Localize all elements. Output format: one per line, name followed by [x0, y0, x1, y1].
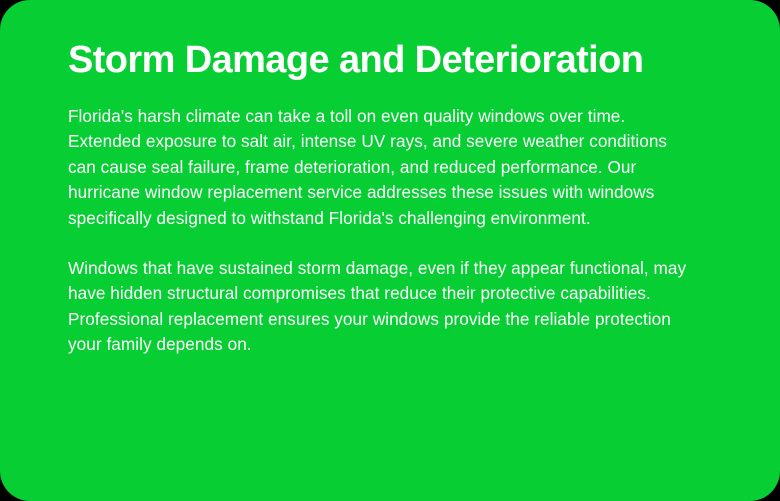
body-paragraph-2: Windows that have sustained storm damage…	[68, 256, 696, 358]
storm-damage-card: Storm Damage and Deterioration Florida's…	[0, 0, 780, 501]
card-content: Storm Damage and Deterioration Florida's…	[68, 36, 702, 358]
page-title: Storm Damage and Deterioration	[68, 36, 702, 84]
card-body: Florida's harsh climate can take a toll …	[68, 104, 696, 358]
body-paragraph-1: Florida's harsh climate can take a toll …	[68, 104, 696, 231]
